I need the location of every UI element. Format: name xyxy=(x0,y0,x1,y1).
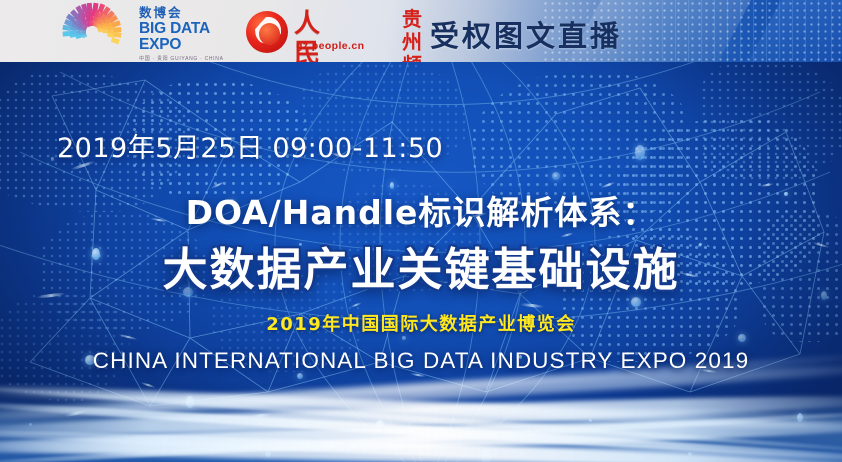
bigdata-expo-logo-text: 数博会 BIG DATA EXPO 中国 · 贵阳 GUIYANG · CHIN… xyxy=(139,6,235,62)
event-title-line1: DOA/Handle标识解析体系： xyxy=(0,186,842,234)
expo-logo-cn-name: 数博会 xyxy=(139,6,235,20)
expo-logo-en-line2: EXPO xyxy=(139,37,235,53)
event-subtitle-en: CHINA INTERNATIONAL BIG DATA INDUSTRY EX… xyxy=(0,348,842,374)
people-cn-channel: 贵州频道 xyxy=(402,8,423,62)
event-title-line2: 大数据产业关键基础设施 xyxy=(0,233,842,298)
livestream-banner: 数博会 BIG DATA EXPO 中国 · 贵阳 GUIYANG · CHIN… xyxy=(0,0,842,462)
people-cn-phoenix-icon xyxy=(246,11,288,53)
people-cn-url: gz.people.cn xyxy=(296,40,364,52)
header-slogan: 受权图文直播 xyxy=(430,13,622,55)
bigdata-expo-spiral-logo-icon xyxy=(62,4,136,60)
people-cn-name: 人民网 xyxy=(294,9,321,62)
expo-logo-en-line1: BIG DATA xyxy=(139,21,235,37)
banner-header: 数博会 BIG DATA EXPO 中国 · 贵阳 GUIYANG · CHIN… xyxy=(0,0,842,62)
expo-logo-location: 中国 · 贵阳 GUIYANG · CHINA xyxy=(139,55,235,62)
event-subtitle-cn: 2019年中国国际大数据产业博览会 xyxy=(0,310,842,336)
event-datetime: 2019年5月25日 09:00-11:50 xyxy=(57,126,443,165)
